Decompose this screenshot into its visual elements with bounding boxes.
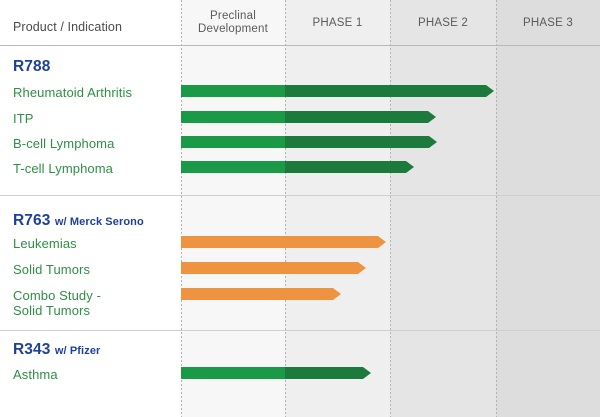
- bar-arrow-tip: [486, 85, 494, 97]
- bar-segment-main: [181, 288, 333, 300]
- column-band-phase1: [285, 0, 390, 417]
- bar-segment-phase: [285, 367, 363, 379]
- header-rule: [0, 45, 600, 46]
- bar-arrow-tip: [363, 367, 371, 379]
- bar-segment-phase: [285, 161, 406, 173]
- bar-arrow-tip: [333, 288, 341, 300]
- bar-arrow-tip: [428, 111, 436, 123]
- bar-arrow-tip: [358, 262, 366, 274]
- indication-label-b-cell-lymphoma: B-cell Lymphoma: [13, 136, 114, 151]
- bar-segment-phase: [285, 111, 428, 123]
- pipeline-chart: Product / Indication Preclinal Developme…: [0, 0, 600, 417]
- bar-segment-preclinical: [181, 367, 285, 379]
- bar-segment-preclinical: [181, 136, 285, 148]
- bar-segment-main: [181, 262, 358, 274]
- column-band-phase2: [390, 0, 496, 417]
- bar-segment-preclinical: [181, 161, 285, 173]
- bar-arrow-tip: [429, 136, 437, 148]
- indication-label-leukemias: Leukemias: [13, 236, 77, 251]
- section-divider-r763: [0, 195, 600, 196]
- bar-segment-phase: [285, 136, 429, 148]
- column-divider-2: [285, 0, 286, 417]
- bar-segment-main: [181, 236, 378, 248]
- product-column-header: Product / Indication: [13, 20, 122, 34]
- indication-label-rheumatoid-arthritis: Rheumatoid Arthritis: [13, 85, 132, 100]
- bar-segment-preclinical: [181, 85, 285, 97]
- column-band-preclinical: [181, 0, 285, 417]
- column-header-preclinical-line2: Development: [198, 23, 268, 36]
- indication-label-solid-tumors: Solid Tumors: [13, 262, 90, 277]
- column-header-phase1: PHASE 1: [285, 0, 390, 46]
- column-header-phase2: PHASE 2: [390, 0, 496, 46]
- column-divider-3: [390, 0, 391, 417]
- indication-label-itp: ITP: [13, 111, 34, 126]
- bar-arrow-tip: [378, 236, 386, 248]
- product-partner-r763: w/ Merck Serono: [55, 216, 144, 228]
- column-header-preclinical-line1: Preclinal: [198, 10, 268, 23]
- product-label-r788: R788: [13, 58, 50, 76]
- bar-segment-phase: [285, 85, 486, 97]
- column-divider-1: [181, 0, 182, 417]
- column-divider-4: [496, 0, 497, 417]
- product-name-r763: R763: [13, 212, 50, 229]
- bar-segment-preclinical: [181, 111, 285, 123]
- column-header-preclinical: Preclinal Development: [181, 0, 285, 46]
- indication-label-asthma: Asthma: [13, 367, 58, 382]
- bar-arrow-tip: [406, 161, 414, 173]
- product-partner-r343: w/ Pfizer: [55, 345, 101, 357]
- indication-label-combo-study-solid-tumors: Combo Study - Solid Tumors: [13, 288, 101, 318]
- product-name-r788: R788: [13, 58, 50, 75]
- indication-label-t-cell-lymphoma: T-cell Lymphoma: [13, 161, 113, 176]
- product-label-r343: R343 w/ Pfizer: [13, 341, 100, 359]
- product-label-r763: R763 w/ Merck Serono: [13, 212, 144, 230]
- column-band-phase3: [496, 0, 600, 417]
- product-name-r343: R343: [13, 341, 50, 358]
- section-divider-r343: [0, 330, 600, 331]
- column-header-phase3: PHASE 3: [496, 0, 600, 46]
